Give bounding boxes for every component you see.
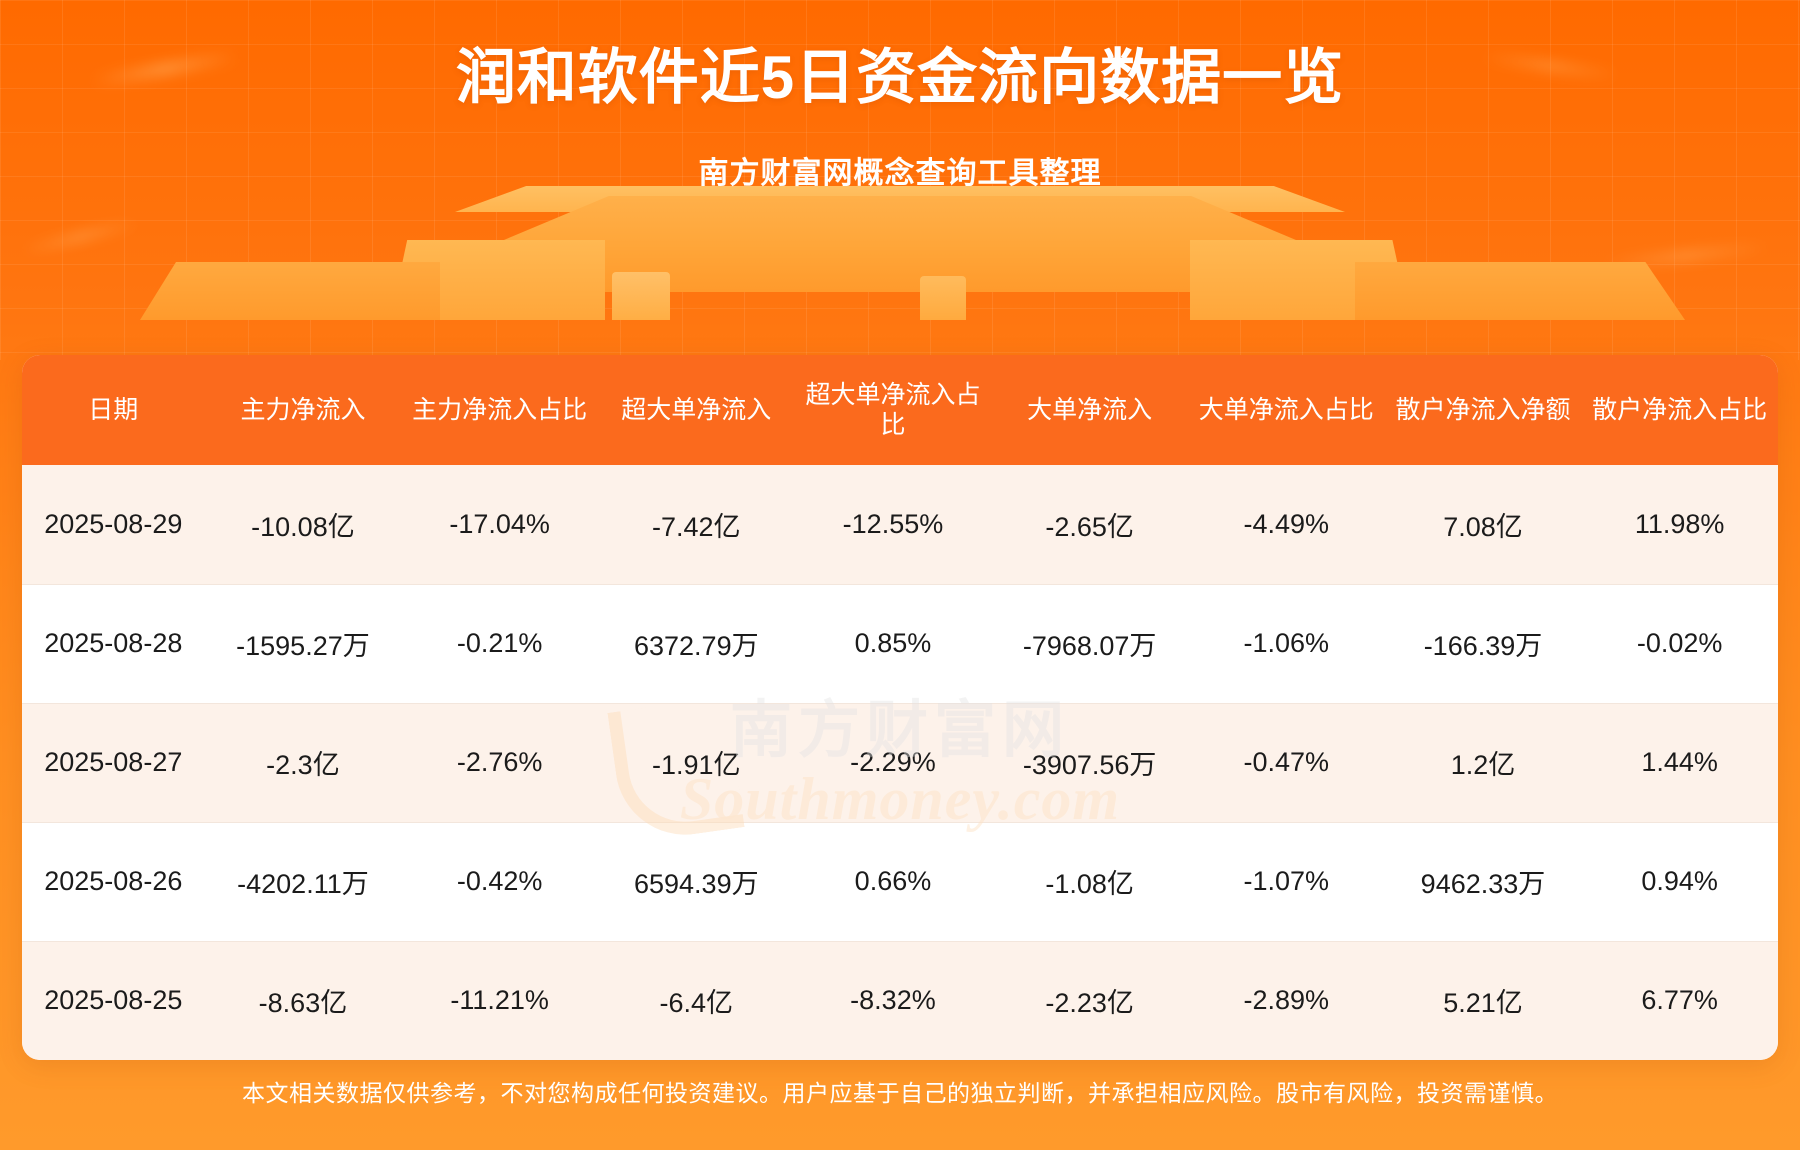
cell-date: 2025-08-28: [22, 584, 205, 703]
cell-value: -6.4亿: [598, 941, 795, 1060]
cell-value: -11.21%: [401, 941, 598, 1060]
cell-value: -10.08亿: [205, 465, 402, 584]
table-row: 2025-08-28-1595.27万-0.21%6372.79万0.85%-7…: [22, 584, 1778, 703]
cell-value: -2.29%: [795, 703, 992, 822]
fund-flow-table: 日期主力净流入主力净流入占比超大单净流入超大单净流入占比大单净流入大单净流入占比…: [22, 355, 1778, 1060]
cell-value: -0.21%: [401, 584, 598, 703]
cell-value: -2.65亿: [991, 465, 1188, 584]
cell-value: -2.23亿: [991, 941, 1188, 1060]
cell-value: 6.77%: [1581, 941, 1778, 1060]
page-subtitle: 南方财富网概念查询工具整理: [0, 148, 1800, 192]
cell-value: 0.66%: [795, 822, 992, 941]
cell-value: 6372.79万: [598, 584, 795, 703]
cell-value: 11.98%: [1581, 465, 1778, 584]
cell-value: -1.08亿: [991, 822, 1188, 941]
cell-value: -2.89%: [1188, 941, 1385, 1060]
podium-platform-left-inner: [390, 240, 605, 320]
podium-block-b: [920, 276, 966, 320]
cell-value: -4.49%: [1188, 465, 1385, 584]
table-row: 2025-08-29-10.08亿-17.04%-7.42亿-12.55%-2.…: [22, 465, 1778, 584]
podium-platform-right-inner: [1190, 240, 1410, 320]
table-column-header-6[interactable]: 大单净流入占比: [1188, 355, 1385, 465]
podium-platform-main: [380, 196, 1420, 292]
page-title: 润和软件近5日资金流向数据一览: [0, 42, 1800, 114]
cell-value: -1.07%: [1188, 822, 1385, 941]
cell-value: -0.02%: [1581, 584, 1778, 703]
table-column-header-0[interactable]: 日期: [22, 355, 205, 465]
table-column-header-7[interactable]: 散户净流入净额: [1385, 355, 1582, 465]
cell-date: 2025-08-26: [22, 822, 205, 941]
cell-value: -4202.11万: [205, 822, 402, 941]
cell-value: 6594.39万: [598, 822, 795, 941]
table-row: 2025-08-27-2.3亿-2.76%-1.91亿-2.29%-3907.5…: [22, 703, 1778, 822]
cell-value: -1.06%: [1188, 584, 1385, 703]
table-row: 2025-08-25-8.63亿-11.21%-6.4亿-8.32%-2.23亿…: [22, 941, 1778, 1060]
cell-value: -17.04%: [401, 465, 598, 584]
cell-value: 5.21亿: [1385, 941, 1582, 1060]
cell-value: -7968.07万: [991, 584, 1188, 703]
table-row: 2025-08-26-4202.11万-0.42%6594.39万0.66%-1…: [22, 822, 1778, 941]
table-column-header-4[interactable]: 超大单净流入占比: [795, 355, 992, 465]
cell-value: 9462.33万: [1385, 822, 1582, 941]
cell-value: 7.08亿: [1385, 465, 1582, 584]
cell-value: 1.2亿: [1385, 703, 1582, 822]
cell-value: -3907.56万: [991, 703, 1188, 822]
infographic-canvas: 润和软件近5日资金流向数据一览 南方财富网概念查询工具整理 南方财富网 Sout…: [0, 0, 1800, 1150]
data-table-card: 南方财富网 Southmoney.com 日期主力净流入主力净流入占比超大单净流…: [22, 355, 1778, 1060]
podium-platform-right: [1355, 262, 1685, 320]
podium-block-a: [612, 272, 670, 320]
cell-value: -2.3亿: [205, 703, 402, 822]
table-header-row: 日期主力净流入主力净流入占比超大单净流入超大单净流入占比大单净流入大单净流入占比…: [22, 355, 1778, 465]
light-streak-decoration: [21, 218, 140, 257]
cell-date: 2025-08-25: [22, 941, 205, 1060]
light-streak-decoration: [1600, 241, 1770, 271]
table-column-header-3[interactable]: 超大单净流入: [598, 355, 795, 465]
podium-platform-left: [140, 262, 440, 320]
table-column-header-1[interactable]: 主力净流入: [205, 355, 402, 465]
table-header: 日期主力净流入主力净流入占比超大单净流入超大单净流入占比大单净流入大单净流入占比…: [22, 355, 1778, 465]
cell-value: -2.76%: [401, 703, 598, 822]
cell-value: 1.44%: [1581, 703, 1778, 822]
table-column-header-8[interactable]: 散户净流入占比: [1581, 355, 1778, 465]
table-column-header-2[interactable]: 主力净流入占比: [401, 355, 598, 465]
cell-value: -12.55%: [795, 465, 992, 584]
table-body: 2025-08-29-10.08亿-17.04%-7.42亿-12.55%-2.…: [22, 465, 1778, 1060]
cell-value: -0.47%: [1188, 703, 1385, 822]
cell-value: -0.42%: [401, 822, 598, 941]
cell-date: 2025-08-29: [22, 465, 205, 584]
cell-value: -7.42亿: [598, 465, 795, 584]
table-column-header-5[interactable]: 大单净流入: [991, 355, 1188, 465]
cell-value: -1.91亿: [598, 703, 795, 822]
cell-value: -1595.27万: [205, 584, 402, 703]
cell-value: -8.63亿: [205, 941, 402, 1060]
cell-value: -8.32%: [795, 941, 992, 1060]
cell-value: -166.39万: [1385, 584, 1582, 703]
cell-date: 2025-08-27: [22, 703, 205, 822]
cell-value: 0.85%: [795, 584, 992, 703]
disclaimer-text: 本文相关数据仅供参考，不对您构成任何投资建议。用户应基于自己的独立判断，并承担相…: [0, 1074, 1800, 1108]
cell-value: 0.94%: [1581, 822, 1778, 941]
